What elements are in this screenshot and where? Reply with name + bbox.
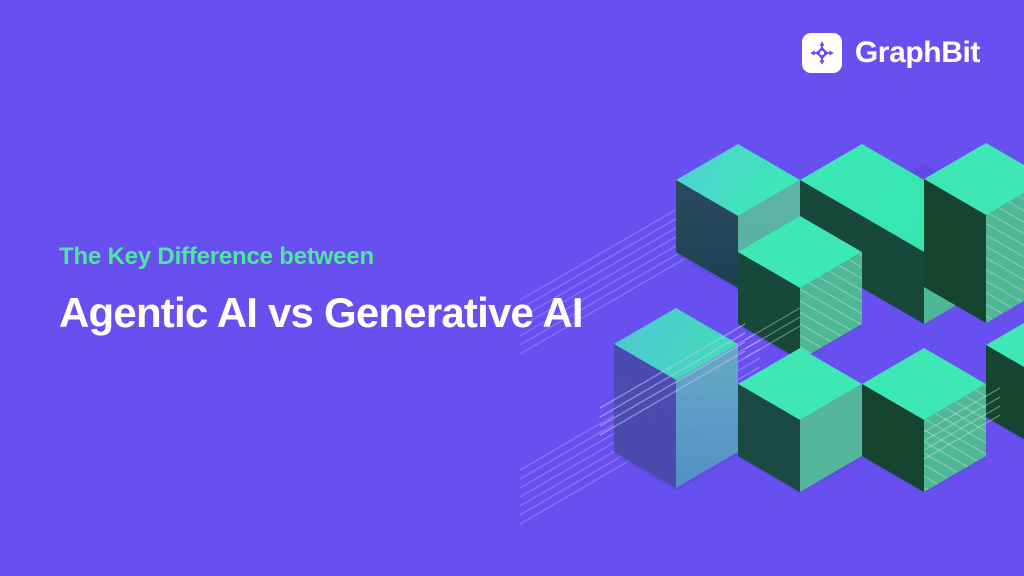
page-title: Agentic AI vs Generative AI: [59, 289, 583, 336]
graphbit-logo[interactable]: GraphBit: [802, 33, 980, 73]
compass-star-icon: [802, 33, 842, 73]
eyebrow-text: The Key Difference between: [59, 243, 583, 272]
promo-banner: GraphBit The Key Difference between Agen…: [0, 0, 1024, 576]
graphbit-wordmark: GraphBit: [855, 38, 980, 68]
headline-block: The Key Difference between Agentic AI vs…: [59, 243, 583, 336]
